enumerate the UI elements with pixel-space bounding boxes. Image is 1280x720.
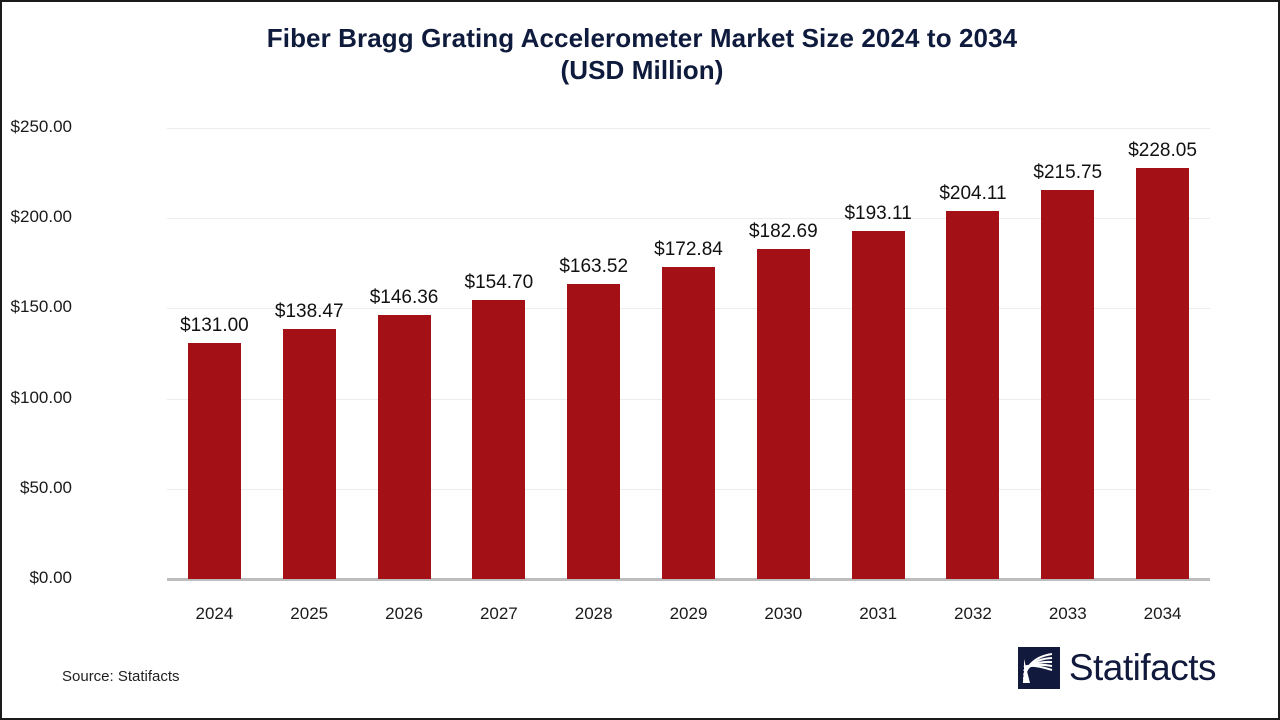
x-axis-tick-label: 2026 <box>385 604 423 624</box>
y-axis-tick-label: $100.00 <box>0 388 72 408</box>
page-title: Fiber Bragg Grating Accelerometer Market… <box>2 22 1280 86</box>
bar-value-label: $182.69 <box>749 221 818 243</box>
bar-value-label: $131.00 <box>180 315 249 337</box>
bar-group: $204.112032 <box>946 128 999 579</box>
bar-group: $228.052034 <box>1136 128 1189 579</box>
bar[interactable] <box>567 284 620 579</box>
bar[interactable] <box>1041 190 1094 579</box>
bar[interactable] <box>852 231 905 579</box>
bar-value-label: $138.47 <box>275 301 344 323</box>
bar[interactable] <box>662 267 715 579</box>
x-axis-tick-label: 2024 <box>195 604 233 624</box>
title-line-2: (USD Million) <box>2 54 1280 86</box>
bar-group: $154.702027 <box>472 128 525 579</box>
x-axis-tick-label: 2029 <box>670 604 708 624</box>
bar[interactable] <box>757 249 810 579</box>
x-axis-tick-label: 2025 <box>290 604 328 624</box>
x-axis-tick-label: 2033 <box>1049 604 1087 624</box>
x-axis-tick-label: 2030 <box>764 604 802 624</box>
bar-group: $146.362026 <box>378 128 431 579</box>
chart-canvas: Fiber Bragg Grating Accelerometer Market… <box>0 0 1280 720</box>
y-axis-tick-label: $200.00 <box>0 207 72 227</box>
plot-area: $0.00$50.00$100.00$150.00$200.00$250.00$… <box>167 128 1210 579</box>
bar-value-label: $228.05 <box>1128 140 1197 162</box>
bar[interactable] <box>188 343 241 579</box>
bar-value-label: $163.52 <box>559 256 628 278</box>
bar-value-label: $204.11 <box>939 183 1006 205</box>
title-line-1: Fiber Bragg Grating Accelerometer Market… <box>2 22 1280 54</box>
bar-group: $138.472025 <box>283 128 336 579</box>
bar[interactable] <box>472 300 525 579</box>
bar-group: $193.112031 <box>852 128 905 579</box>
brand-logo: Statifacts <box>1018 647 1216 689</box>
x-axis-tick-label: 2032 <box>954 604 992 624</box>
x-axis-tick-label: 2027 <box>480 604 518 624</box>
bar-group: $182.692030 <box>757 128 810 579</box>
y-axis-tick-label: $150.00 <box>0 297 72 317</box>
bar-value-label: $215.75 <box>1033 162 1102 184</box>
y-axis-tick-label: $250.00 <box>0 117 72 137</box>
bar[interactable] <box>378 315 431 579</box>
bar-group: $215.752033 <box>1041 128 1094 579</box>
bar[interactable] <box>946 211 999 579</box>
bar-value-label: $146.36 <box>370 287 439 309</box>
y-axis-tick-label: $50.00 <box>0 478 72 498</box>
x-axis-tick-label: 2031 <box>859 604 897 624</box>
source-note: Source: Statifacts <box>62 668 180 685</box>
x-axis-tick-label: 2034 <box>1144 604 1182 624</box>
bar-group: $163.522028 <box>567 128 620 579</box>
bar-group: $172.842029 <box>662 128 715 579</box>
statifacts-wave-logo-icon <box>1018 647 1060 689</box>
brand-name: Statifacts <box>1069 647 1216 689</box>
bar[interactable] <box>1136 168 1189 579</box>
bar[interactable] <box>283 329 336 579</box>
bar-value-label: $172.84 <box>654 239 723 261</box>
y-axis-tick-label: $0.00 <box>0 568 72 588</box>
bar-value-label: $154.70 <box>465 272 534 294</box>
x-axis-tick-label: 2028 <box>575 604 613 624</box>
bar-group: $131.002024 <box>188 128 241 579</box>
bar-value-label: $193.11 <box>844 203 911 225</box>
